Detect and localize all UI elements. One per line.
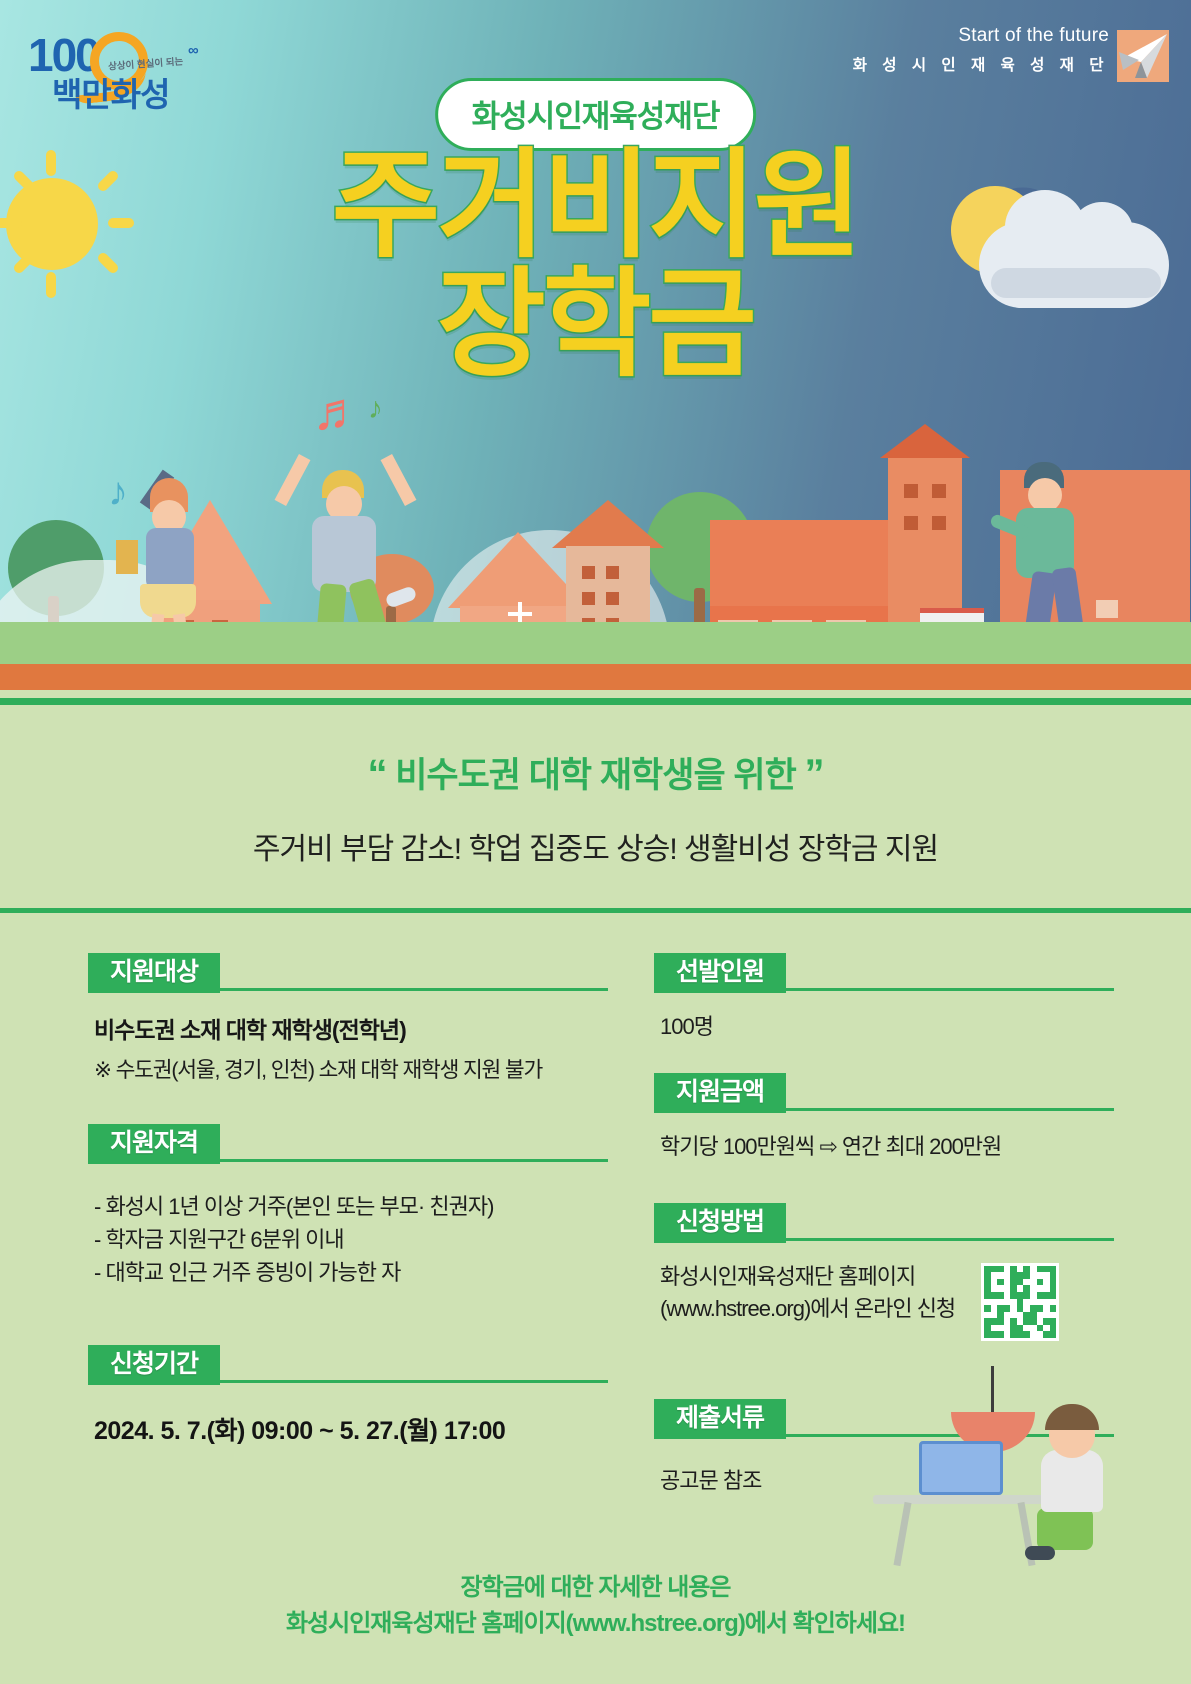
section-label-qualification: 지원자격	[88, 1124, 220, 1164]
laptop-icon	[919, 1441, 1003, 1495]
section-qualification: 지원자격 - 화성시 1년 이상 거주(본인 또는 부모· 친권자) - 학자금…	[88, 1120, 608, 1289]
target-note: ※ 수도권(서울, 경기, 인천) 소재 대학 재학생 지원 불가	[94, 1053, 606, 1084]
orange-strip	[0, 664, 1191, 690]
footer: 장학금에 대한 자세한 내용은 화성시인재육성재단 홈페이지(www.hstre…	[0, 1570, 1191, 1642]
person-shoe	[1025, 1546, 1055, 1560]
qualification-item: - 화성시 1년 이상 거주(본인 또는 부모· 친권자)	[94, 1190, 606, 1223]
qr-code-icon[interactable]	[981, 1263, 1059, 1341]
quote-line: “ 비수도권 대학 재학생을 위한 ”	[0, 747, 1191, 798]
logo-name: 백만화성	[52, 68, 169, 116]
section-rule	[220, 1159, 608, 1162]
quote-close: ”	[805, 752, 824, 796]
person-legs	[1037, 1508, 1093, 1550]
music-note-icon: ♪	[368, 392, 383, 426]
method-line-1: 화성시인재육성재단 홈페이지	[660, 1261, 955, 1293]
section-rule	[786, 988, 1114, 991]
section-label-documents: 제출서류	[654, 1399, 786, 1439]
quota-value: 100명	[660, 1011, 1112, 1043]
section-rule	[220, 988, 608, 991]
section-label-quota: 선발인원	[654, 953, 786, 993]
ground-strip	[0, 622, 1191, 664]
lamp-cord	[991, 1366, 994, 1414]
footer-line-2: 화성시인재육성재단 홈페이지(www.hstree.org)에서 확인하세요!	[0, 1606, 1191, 1642]
qualification-item: - 학자금 지원구간 6분위 이내	[94, 1223, 606, 1256]
hero-banner: ♪ ♬ ♪	[0, 0, 1191, 690]
desk-illustration	[873, 1366, 1113, 1566]
qualification-item: - 대학교 인근 거주 증빙이 가능한 자	[94, 1256, 606, 1289]
foundation-korean: 화 성 시 인 재 육 성 재 단	[853, 53, 1109, 75]
section-label-target: 지원대상	[88, 953, 220, 993]
music-note-icon: ♪	[108, 470, 128, 515]
target-strong: 비수도권 소재 대학 재학생(전학년)	[94, 1011, 606, 1045]
section-rule	[220, 1380, 608, 1383]
section-period: 신청기간 2024. 5. 7.(화) 09:00 ~ 5. 27.(월) 17…	[88, 1341, 608, 1447]
poster: ♪ ♬ ♪	[0, 0, 1191, 1684]
title-line-1: 주거비지원	[0, 150, 1191, 263]
subtitle: 주거비 부담 감소! 학업 집중도 상승! 생활비성 장학금 지원	[0, 824, 1191, 868]
foundation-logo: Start of the future 화 성 시 인 재 육 성 재 단	[853, 26, 1169, 82]
divider-top	[0, 698, 1191, 705]
section-target: 지원대상 비수도권 소재 대학 재학생(전학년) ※ 수도권(서울, 경기, 인…	[88, 949, 608, 1084]
section-label-period: 신청기간	[88, 1345, 220, 1385]
desk-leg	[893, 1502, 911, 1566]
section-rule	[786, 1108, 1114, 1111]
section-rule	[786, 1238, 1114, 1241]
infinity-icon: ∞	[188, 42, 199, 59]
foundation-english: Start of the future	[853, 26, 1109, 47]
poster-title: 주거비지원 장학금	[0, 150, 1191, 383]
section-quota: 선발인원 100명	[654, 949, 1114, 1043]
music-note-icon: ♬	[312, 382, 364, 442]
quote-text: 비수도권 대학 재학생을 위한	[395, 756, 796, 795]
title-line-2: 장학금	[0, 269, 1191, 382]
amount-value: 학기당 100만원씩 ⇨ 연간 최대 200만원	[660, 1131, 1112, 1163]
period-value: 2024. 5. 7.(화) 09:00 ~ 5. 27.(월) 17:00	[94, 1411, 606, 1447]
person-hair	[1045, 1404, 1099, 1430]
baekman-hwaseong-logo: 100 상상이 현실이 되는 ∞ 백만화성	[28, 28, 228, 106]
section-label-method: 신청방법	[654, 1203, 786, 1243]
quote-open: “	[367, 752, 386, 796]
info-column-left: 지원대상 비수도권 소재 대학 재학생(전학년) ※ 수도권(서울, 경기, 인…	[88, 949, 608, 1511]
method-line-2: (www.hstree.org)에서 온라인 신청	[660, 1293, 955, 1325]
section-method: 신청방법 화성시인재육성재단 홈페이지 (www.hstree.org)에서 온…	[654, 1199, 1114, 1341]
quote-band: “ 비수도권 대학 재학생을 위한 ” 주거비 부담 감소! 학업 집중도 상승…	[0, 690, 1191, 913]
section-amount: 지원금액 학기당 100만원씩 ⇨ 연간 최대 200만원	[654, 1069, 1114, 1163]
section-label-amount: 지원금액	[654, 1073, 786, 1113]
footer-line-1: 장학금에 대한 자세한 내용은	[0, 1570, 1191, 1606]
paper-plane-icon	[1117, 30, 1169, 82]
person-body	[1041, 1450, 1103, 1512]
